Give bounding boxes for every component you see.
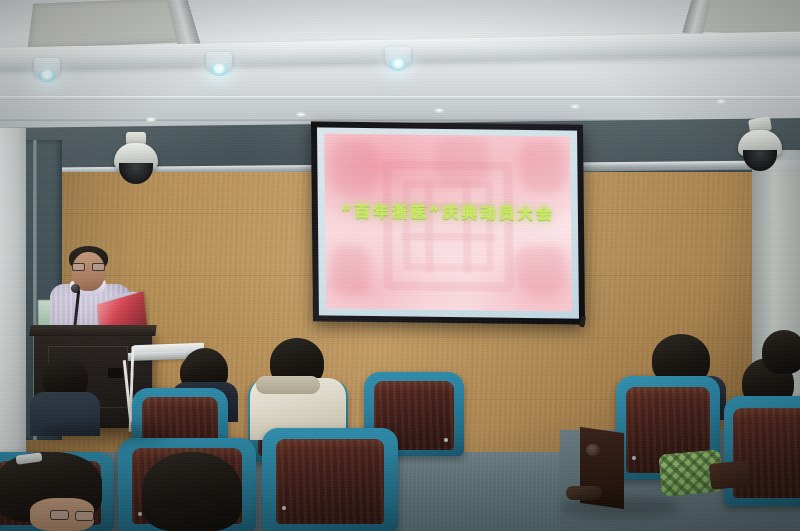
spotlight-2-icon [206,52,232,71]
attendee-cream-scarf [256,376,320,394]
armrest [709,460,751,490]
spotlight-1-icon [34,58,60,77]
dome-camera-right [733,118,789,178]
conference-hall-photo: “百年浙医”庆典动员大会 [0,0,800,531]
recessed-light-icon [716,99,726,104]
projected-slide: “百年浙医”庆典动员大会 [324,134,572,312]
speaker-glasses-icon [72,263,105,271]
dome-camera-left [108,132,164,190]
projection-screen: “百年浙医”庆典动员大会 [311,121,585,324]
wall-left-column [0,128,26,458]
attendee-front-center [142,452,242,531]
chair-row3-right[interactable] [724,396,800,506]
attendee-glasses-icon [50,510,94,520]
recessed-light-icon [570,104,580,109]
chair-row2-right[interactable] [262,428,398,531]
recessed-light-icon [146,117,156,122]
microphone-icon [71,284,80,293]
recessed-light-icon [296,112,306,117]
chair-pivot-bolt [586,444,600,456]
recessed-light-icon [434,108,444,113]
attendee-front-left-woman [0,452,112,531]
ceiling-seam [0,96,800,100]
slide-title: “百年浙医”庆典动员大会 [325,199,571,224]
attendee-far-right [762,330,800,374]
spotlight-3-icon [385,47,411,66]
